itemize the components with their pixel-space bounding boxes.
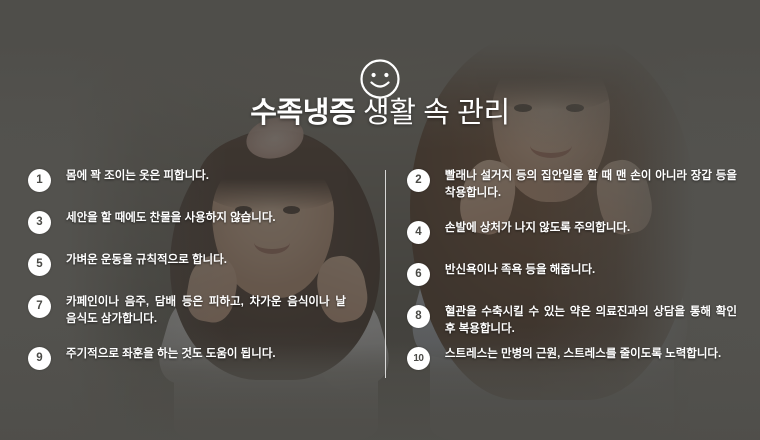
column-divider	[385, 170, 386, 378]
tips-column-right: 2 빨래나 설거지 등의 집안일을 할 때 맨 손이 아니라 장갑 등을 착용합…	[381, 168, 736, 380]
list-item[interactable]: 6 반신욕이나 족욕 등을 해줍니다.	[407, 262, 737, 286]
item-text: 가벼운 운동을 규칙적으로 합니다.	[66, 252, 346, 269]
list-item[interactable]: 8 혈관을 수축시킬 수 있는 약은 의료진과의 상담을 통해 확인 후 복용합…	[407, 304, 737, 338]
item-text: 손발에 상처가 나지 않도록 주의합니다.	[445, 220, 737, 237]
item-text: 혈관을 수축시킬 수 있는 약은 의료진과의 상담을 통해 확인 후 복용합니다…	[445, 304, 737, 338]
tips-columns: 1 몸에 꽉 조이는 옷은 피합니다. 3 세안을 할 때에도 찬물을 사용하지…	[28, 168, 736, 380]
item-number-badge: 1	[28, 169, 51, 192]
item-number-badge: 2	[407, 169, 430, 192]
tips-column-left: 1 몸에 꽉 조이는 옷은 피합니다. 3 세안을 할 때에도 찬물을 사용하지…	[28, 168, 381, 380]
list-item[interactable]: 10 스트레스는 만병의 근원, 스트레스를 줄이도록 노력합니다.	[407, 346, 737, 370]
item-number-badge: 6	[407, 263, 430, 286]
item-text: 빨래나 설거지 등의 집안일을 할 때 맨 손이 아니라 장갑 등을 착용합니다…	[445, 168, 737, 202]
item-number-badge: 7	[28, 295, 51, 318]
item-text: 스트레스는 만병의 근원, 스트레스를 줄이도록 노력합니다.	[445, 346, 737, 363]
list-item[interactable]: 9 주기적으로 좌훈을 하는 것도 도움이 됩니다.	[28, 346, 346, 370]
title-subtext: 생활 속 관리	[363, 97, 510, 129]
item-text: 세안을 할 때에도 찬물을 사용하지 않습니다.	[66, 210, 346, 227]
page-title: 수족냉증 생활 속 관리	[0, 98, 760, 128]
list-item[interactable]: 2 빨래나 설거지 등의 집안일을 할 때 맨 손이 아니라 장갑 등을 착용합…	[407, 168, 737, 202]
item-number-badge: 3	[28, 211, 51, 234]
list-item[interactable]: 7 카페인이나 음주, 담배 등은 피하고, 차가운 음식이나 날 음식도 삼가…	[28, 294, 346, 328]
item-number-badge: 9	[28, 347, 51, 370]
item-text: 카페인이나 음주, 담배 등은 피하고, 차가운 음식이나 날 음식도 삼가합니…	[66, 294, 346, 328]
banner-content: 수족냉증 생활 속 관리 1 몸에 꽉 조이는 옷은 피합니다. 3 세안을 할…	[0, 0, 760, 440]
item-text: 반신욕이나 족욕 등을 해줍니다.	[445, 262, 737, 279]
list-item[interactable]: 5 가벼운 운동을 규칙적으로 합니다.	[28, 252, 346, 276]
item-number-badge: 4	[407, 221, 430, 244]
item-text: 주기적으로 좌훈을 하는 것도 도움이 됩니다.	[66, 346, 346, 363]
list-item[interactable]: 3 세안을 할 때에도 찬물을 사용하지 않습니다.	[28, 210, 346, 234]
item-number-badge: 8	[407, 305, 430, 328]
list-item[interactable]: 4 손발에 상처가 나지 않도록 주의합니다.	[407, 220, 737, 244]
item-text: 몸에 꽉 조이는 옷은 피합니다.	[66, 168, 346, 185]
smiley-face-icon	[359, 58, 401, 100]
title-keyword: 수족냉증	[250, 97, 355, 129]
infographic-banner: 수족냉증 생활 속 관리 1 몸에 꽉 조이는 옷은 피합니다. 3 세안을 할…	[0, 0, 760, 440]
list-item[interactable]: 1 몸에 꽉 조이는 옷은 피합니다.	[28, 168, 346, 192]
item-number-badge: 10	[407, 347, 430, 370]
item-number-badge: 5	[28, 253, 51, 276]
